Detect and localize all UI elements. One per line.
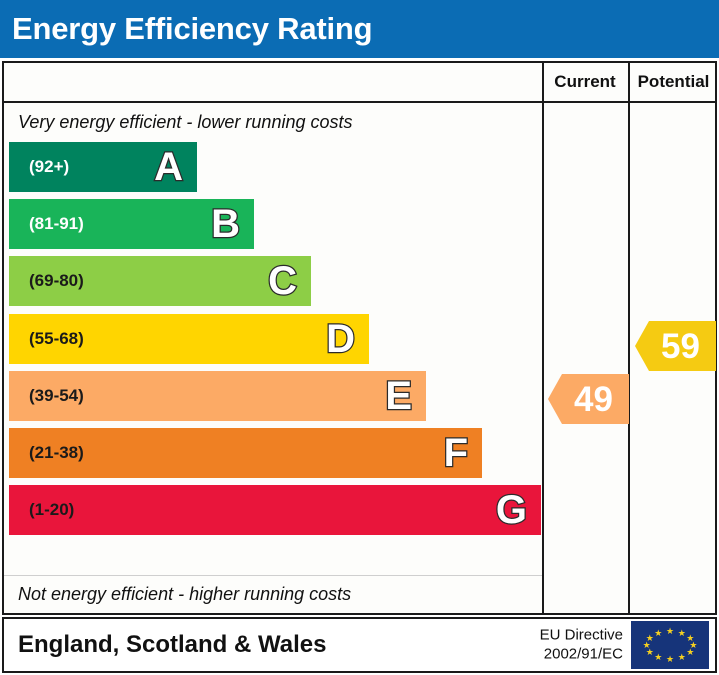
footer-region-label: England, Scotland & Wales <box>18 631 326 659</box>
caption-very-efficient: Very energy efficient - lower running co… <box>4 103 542 141</box>
band-range-e: (39-54) <box>29 386 84 406</box>
eu-flag-star: ★ <box>666 655 674 663</box>
band-range-g: (1-20) <box>29 500 74 520</box>
band-c: (69-80)C <box>9 256 311 306</box>
footer-bar: England, Scotland & Wales EU Directive 2… <box>2 617 717 673</box>
band-e: (39-54)E <box>9 371 426 421</box>
band-letter-d: D <box>326 319 355 359</box>
footer-directive-line1: EU Directive <box>540 626 623 645</box>
eu-flag-star: ★ <box>686 648 694 656</box>
eu-flag-star: ★ <box>678 629 686 637</box>
band-range-d: (55-68) <box>29 329 84 349</box>
page-title: Energy Efficiency Rating <box>12 11 372 47</box>
footer-directive-line2: 2002/91/EC <box>540 645 623 664</box>
energy-efficiency-certificate: Energy Efficiency Rating Current Potenti… <box>0 0 719 675</box>
column-divider-current <box>542 63 544 613</box>
band-d: (55-68)D <box>9 314 369 364</box>
band-b: (81-91)B <box>9 199 254 249</box>
band-letter-b: B <box>211 204 240 244</box>
column-header-row: Current Potential <box>4 63 715 103</box>
band-letter-c: C <box>268 261 297 301</box>
column-header-potential: Potential <box>630 63 717 101</box>
band-range-c: (69-80) <box>29 271 84 291</box>
band-list: (92+)A(81-91)B(69-80)C(55-68)D(39-54)E(2… <box>9 142 542 575</box>
band-range-a: (92+) <box>29 157 69 177</box>
eu-flag-star: ★ <box>654 653 662 661</box>
band-g: (1-20)G <box>9 485 541 535</box>
caption-not-efficient: Not energy efficient - higher running co… <box>4 575 542 613</box>
eu-flag-star: ★ <box>666 627 674 635</box>
rating-marker-potential: 59 <box>635 321 716 371</box>
band-f: (21-38)F <box>9 428 482 478</box>
band-letter-g: G <box>496 490 527 530</box>
eu-flag-star: ★ <box>646 634 654 642</box>
band-range-f: (21-38) <box>29 443 84 463</box>
column-divider-potential <box>628 63 630 613</box>
title-bar: Energy Efficiency Rating <box>0 0 719 58</box>
footer-directive: EU Directive 2002/91/EC <box>540 626 623 664</box>
band-range-b: (81-91) <box>29 214 84 234</box>
rating-table: Current Potential Very energy efficient … <box>2 61 717 615</box>
eu-flag-star: ★ <box>678 653 686 661</box>
rating-marker-current: 49 <box>548 374 629 424</box>
eu-flag-icon: ★★★★★★★★★★★★ <box>631 621 709 669</box>
eu-flag-star: ★ <box>654 629 662 637</box>
band-a: (92+)A <box>9 142 197 192</box>
band-letter-e: E <box>385 376 412 416</box>
band-letter-a: A <box>154 147 183 187</box>
band-letter-f: F <box>444 433 468 473</box>
column-header-current: Current <box>542 63 628 101</box>
